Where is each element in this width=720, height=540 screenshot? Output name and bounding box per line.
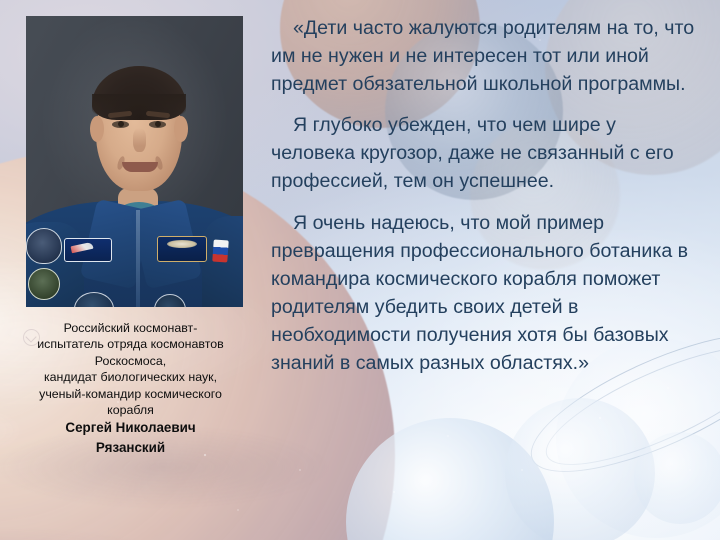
person-name-line-2: Рязанский (6, 438, 255, 458)
caption-line-2: испытатель отряда космонавтов (6, 336, 255, 352)
caption-line-1: Российский космонавт- (6, 320, 255, 336)
ear-left (90, 116, 104, 142)
quote-paragraph-1: «Дети часто жалуются родителям на то, чт… (271, 14, 705, 98)
ice-sphere-medium (505, 398, 655, 540)
pupil-left (118, 121, 124, 127)
mouth (122, 162, 158, 172)
quote-block: «Дети часто жалуются родителям на то, чт… (271, 14, 705, 377)
hairline (92, 94, 186, 120)
name-patch-icon (157, 236, 207, 262)
quote-paragraph-3: Я очень надеюсь, что мой пример превраще… (271, 209, 705, 378)
quote-paragraph-2: Я глубоко убежден, что чем шире у челове… (271, 111, 705, 195)
mission-patch-round-b-icon (28, 268, 60, 300)
photo-caption: Российский космонавт- испытатель отряда … (6, 320, 255, 458)
caption-line-4: кандидат биологических наук, (6, 369, 255, 385)
caption-line-6: корабля (6, 402, 255, 418)
roscosmos-patch-icon (64, 238, 112, 262)
cosmonaut-photo (26, 16, 243, 307)
russian-flag-icon (212, 240, 228, 263)
slide-canvas: Российский космонавт- испытатель отряда … (0, 0, 720, 540)
caption-line-5: ученый-командир космического (6, 386, 255, 402)
ice-sphere-small (634, 432, 720, 524)
pupil-right (155, 121, 161, 127)
person-name-line-1: Сергей Николаевич (6, 418, 255, 438)
nose (133, 128, 146, 152)
mission-patch-round-a-icon (26, 228, 62, 264)
flight-suit-zipper (136, 210, 140, 307)
ear-right (174, 116, 188, 142)
caption-line-3: Роскосмоса, (6, 353, 255, 369)
